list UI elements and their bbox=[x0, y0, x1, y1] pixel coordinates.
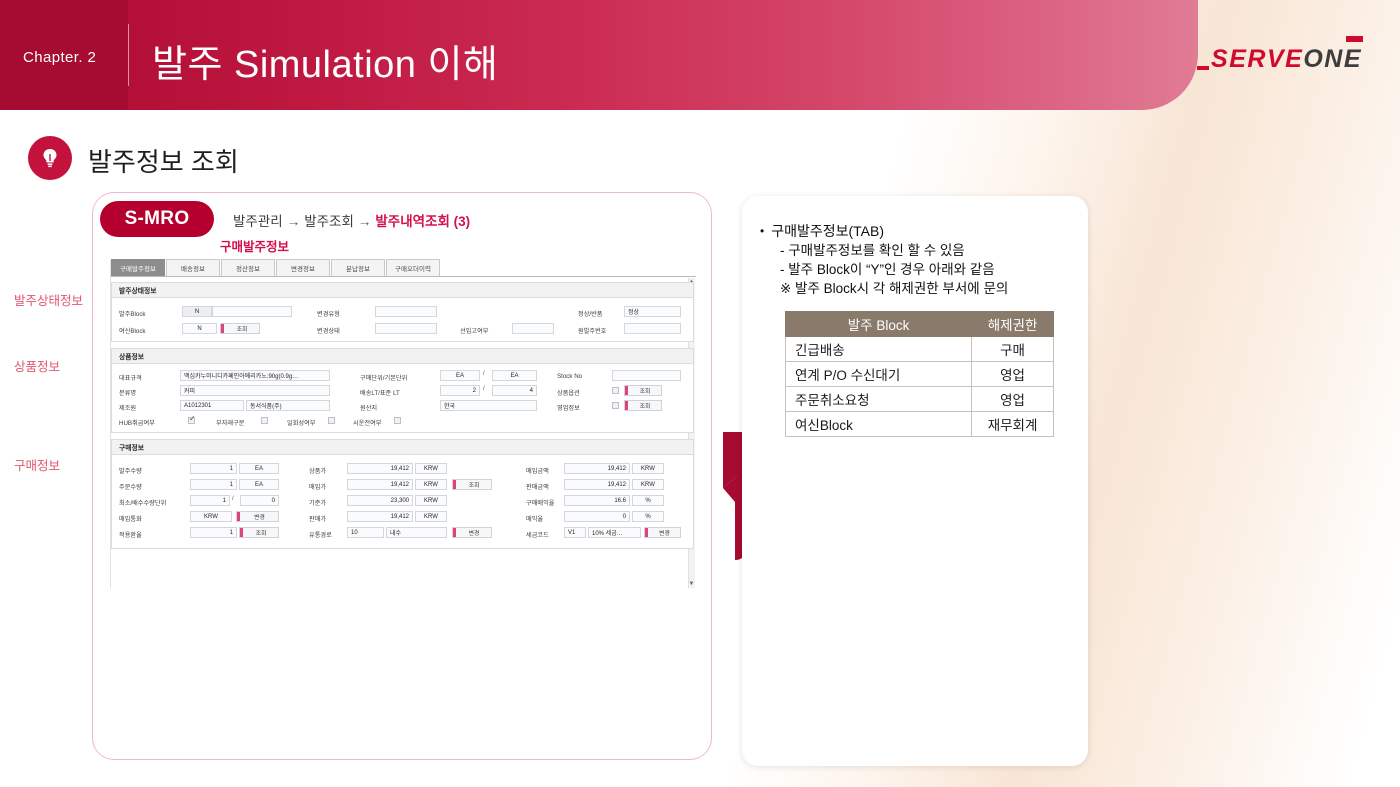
value-base-price: 23,300 bbox=[347, 495, 413, 506]
bullet-subline-2: - 발주 Block이 “Y”인 경우 아래와 같음 bbox=[760, 260, 1072, 279]
tab-purchase-order-history[interactable]: 구매오더이력 bbox=[386, 259, 440, 276]
value-unit-base: EA bbox=[492, 370, 537, 381]
tab-caption: 구매발주정보 bbox=[220, 236, 289, 255]
value-multiple-qty: 0 bbox=[240, 495, 279, 506]
label-origin: 원산지 bbox=[360, 403, 377, 412]
cell-authority-2: 영업 bbox=[972, 362, 1054, 387]
value-sell-price-currency: KRW bbox=[415, 511, 447, 522]
group-order-status: 발주상태정보 발주Block N 여신Block N 조회 변경유형 변경상태 … bbox=[111, 282, 694, 342]
label-maker: 제조원 bbox=[119, 403, 136, 412]
table-header-authority: 해제권한 bbox=[972, 312, 1054, 337]
label-dist-route: 유통경로 bbox=[309, 530, 332, 539]
table-header-row: 발주 Block 해제권한 bbox=[786, 312, 1054, 337]
tax-code-change-button[interactable]: 변경 bbox=[644, 527, 681, 538]
breadcrumb-arrow-2-icon: → bbox=[354, 214, 376, 229]
scroll-down-icon[interactable]: ▼ bbox=[688, 580, 695, 588]
label-lt: 배송LT/표준 LT bbox=[360, 388, 400, 397]
callout-purchase-info: 구매정보 bbox=[14, 455, 60, 474]
label-category: 분류명 bbox=[119, 388, 136, 397]
cell-authority-3: 영업 bbox=[972, 387, 1054, 412]
value-dist-route-code: 10 bbox=[347, 527, 384, 538]
value-request-qty-unit: EA bbox=[239, 479, 279, 490]
table-row: 긴급배송 구매 bbox=[786, 337, 1054, 362]
logo-text-serve: SERVE bbox=[1211, 45, 1303, 74]
value-maker-code: A1012301 bbox=[180, 400, 244, 411]
lt-separator: / bbox=[483, 386, 485, 392]
cell-block-3: 주문취소요청 bbox=[786, 387, 972, 412]
slide-header: Chapter. 2 발주 Simulation 이해 bbox=[0, 0, 1198, 110]
bullet-item-main: • 구매발주정보(TAB) bbox=[760, 222, 1072, 241]
tab-bar: 구매발주정보 배송정보 정산정보 변경정보 분납정보 구매오더이력 bbox=[111, 260, 696, 277]
value-buy-price: 19,412 bbox=[347, 479, 413, 490]
bullet-dot-icon: • bbox=[760, 222, 764, 240]
label-prod-option: 상품옵션 bbox=[557, 388, 580, 397]
bullet-subline-1: - 구매발주정보를 확인 할 수 있음 bbox=[760, 241, 1072, 260]
dist-route-change-button[interactable]: 변경 bbox=[452, 527, 492, 538]
label-base-price: 기준가 bbox=[309, 498, 326, 507]
tab-settlement-info[interactable]: 정산정보 bbox=[221, 259, 275, 276]
value-sell-amount: 19,412 bbox=[564, 479, 630, 490]
value-sale-price: 19,412 bbox=[347, 463, 413, 474]
value-dist-route-name: 내수 bbox=[386, 527, 447, 538]
breadcrumb-current: 발주내역조회 (3) bbox=[375, 214, 470, 229]
checkbox-hub[interactable] bbox=[188, 417, 195, 424]
cell-block-1: 긴급배송 bbox=[786, 337, 972, 362]
value-applied-rate: 1 bbox=[190, 527, 237, 538]
breadcrumb-arrow-1-icon: → bbox=[283, 214, 305, 229]
label-unit: 구매단위/기본단위 bbox=[360, 373, 407, 382]
label-sell-amount: 판매금액 bbox=[526, 482, 549, 491]
label-sell-price: 판매가 bbox=[309, 514, 326, 523]
app-window: 구매발주정보 배송정보 정산정보 변경정보 분납정보 구매오더이력 ▲ ▼ 발주… bbox=[110, 260, 695, 588]
checkbox-trial[interactable] bbox=[394, 417, 401, 424]
tab-delivery-info[interactable]: 배송정보 bbox=[166, 259, 220, 276]
cell-authority-1: 구매 bbox=[972, 337, 1054, 362]
label-order-block: 발주Block bbox=[119, 309, 146, 318]
credit-block-lookup-button[interactable]: 조회 bbox=[220, 323, 260, 334]
label-biz-info: 영업정보 bbox=[557, 403, 580, 412]
label-applied-rate: 적용환율 bbox=[119, 530, 142, 539]
value-base-price-currency: KRW bbox=[415, 495, 447, 506]
checkbox-prod-option[interactable] bbox=[612, 387, 619, 394]
applied-rate-lookup-button[interactable]: 조회 bbox=[239, 527, 279, 538]
value-request-qty: 1 bbox=[190, 479, 237, 490]
lightbulb-icon bbox=[28, 136, 72, 180]
tab-purchase-order-info[interactable]: 구매발주정보 bbox=[111, 259, 165, 276]
page-title: 발주 Simulation 이해 bbox=[152, 33, 498, 88]
value-buy-price-currency: KRW bbox=[415, 479, 447, 490]
value-prereceipt[interactable] bbox=[512, 323, 554, 334]
label-stock-no: Stock No bbox=[557, 373, 582, 380]
group-purchase-info: 구매정보 발주수량 1 EA 주문수량 1 EA 최소/배수수량단위 1 / 0… bbox=[111, 439, 694, 549]
breadcrumb: 발주관리→발주조회→발주내역조회 (3) bbox=[233, 210, 470, 230]
buy-price-lookup-button[interactable]: 조회 bbox=[452, 479, 492, 490]
breadcrumb-item-2[interactable]: 발주조회 bbox=[304, 214, 354, 229]
value-maker-name: 동서식품(주) bbox=[246, 400, 330, 411]
value-sell-amount-currency: KRW bbox=[632, 479, 664, 490]
label-trial: 시운전여부 bbox=[353, 418, 381, 427]
value-buy-currency: KRW bbox=[190, 511, 232, 522]
cell-block-4: 여신Block bbox=[786, 412, 972, 437]
label-sub-material: 부자재구분 bbox=[216, 418, 244, 427]
checkbox-onetime[interactable] bbox=[328, 417, 335, 424]
value-change-type[interactable] bbox=[375, 306, 437, 317]
biz-info-lookup-button[interactable]: 조회 bbox=[624, 400, 662, 411]
value-credit-block: N bbox=[182, 323, 217, 334]
value-buy-margin-unit: % bbox=[632, 495, 664, 506]
screenshot-card: S-MRO 발주관리→발주조회→발주내역조회 (3) 구매발주정보 구매발주정보… bbox=[92, 192, 712, 760]
checkbox-sub-material[interactable] bbox=[261, 417, 268, 424]
label-orig-order-no: 원발주번호 bbox=[578, 326, 606, 335]
value-tax-code: V1 bbox=[564, 527, 586, 538]
label-buy-margin: 구매매익율 bbox=[526, 498, 554, 507]
label-credit-block: 여신Block bbox=[119, 326, 146, 335]
logo-accent-bar-icon bbox=[1346, 36, 1363, 42]
unit-separator: / bbox=[483, 371, 485, 377]
value-lt-standard: 4 bbox=[492, 385, 537, 396]
table-row: 연계 P/O 수신대기 영업 bbox=[786, 362, 1054, 387]
label-min-multiple: 최소/배수수량단위 bbox=[119, 498, 166, 507]
checkbox-biz-info[interactable] bbox=[612, 402, 619, 409]
label-order-qty: 발주수량 bbox=[119, 466, 142, 475]
label-sale-price: 상품가 bbox=[309, 466, 326, 475]
label-buy-currency: 매입통화 bbox=[119, 514, 142, 523]
label-change-state: 변경상태 bbox=[317, 326, 340, 335]
table-row: 여신Block 재무회계 bbox=[786, 412, 1054, 437]
value-category: 커피 bbox=[180, 385, 330, 396]
value-change-state[interactable] bbox=[375, 323, 437, 334]
value-buy-amount: 19,412 bbox=[564, 463, 630, 474]
value-order-block: N bbox=[182, 306, 212, 317]
value-buy-margin: 16.6 bbox=[564, 495, 630, 506]
bullet-subline-3: ※ 발주 Block시 각 해제권한 부서에 문의 bbox=[760, 279, 1072, 298]
buy-currency-change-button[interactable]: 변경 bbox=[236, 511, 279, 522]
value-spec: 맥심카누미니디카페인아메리카노:90g(0.9g… bbox=[180, 370, 330, 381]
tab-change-info[interactable]: 변경정보 bbox=[276, 259, 330, 276]
label-onetime: 일회성여부 bbox=[287, 418, 315, 427]
table-row: 주문취소요청 영업 bbox=[786, 387, 1054, 412]
value-unit-buy: EA bbox=[440, 370, 480, 381]
value-orig-order-no[interactable] bbox=[624, 323, 681, 334]
logo-underscore-icon bbox=[1197, 66, 1209, 70]
cell-authority-4: 재무회계 bbox=[972, 412, 1054, 437]
label-normal-return: 정상/반품 bbox=[578, 309, 603, 318]
label-change-type: 변경유형 bbox=[317, 309, 340, 318]
chapter-label: Chapter. 2 bbox=[23, 49, 96, 66]
bullet-list: • 구매발주정보(TAB) - 구매발주정보를 확인 할 수 있음 - 발주 B… bbox=[760, 222, 1072, 298]
label-request-qty: 주문수량 bbox=[119, 482, 142, 491]
value-sale-price-currency: KRW bbox=[415, 463, 447, 474]
smro-badge: S-MRO bbox=[100, 201, 214, 237]
label-tax-code: 세금코드 bbox=[526, 530, 549, 539]
smro-badge-label: S-MRO bbox=[125, 208, 190, 230]
group-product-info-title: 상품정보 bbox=[112, 349, 693, 364]
label-margin: 매익율 bbox=[526, 514, 543, 523]
label-prereceipt: 선입고여부 bbox=[460, 326, 488, 335]
value-lt-delivery: 2 bbox=[440, 385, 480, 396]
value-margin-unit: % bbox=[632, 511, 664, 522]
label-spec: 대표규격 bbox=[119, 373, 142, 382]
explanation-card: • 구매발주정보(TAB) - 구매발주정보를 확인 할 수 있음 - 발주 B… bbox=[742, 196, 1088, 766]
value-origin: 한국 bbox=[440, 400, 537, 411]
value-buy-amount-currency: KRW bbox=[632, 463, 664, 474]
bullet-title: 구매발주정보(TAB) bbox=[771, 222, 884, 241]
value-order-qty: 1 bbox=[190, 463, 237, 474]
value-min-qty: 1 bbox=[190, 495, 230, 506]
value-margin: 0 bbox=[564, 511, 630, 522]
slide-root: Chapter. 2 발주 Simulation 이해 SERVE ONE 발주… bbox=[0, 0, 1400, 787]
value-order-block-2[interactable] bbox=[212, 306, 292, 317]
prod-option-lookup-button[interactable]: 조회 bbox=[624, 385, 662, 396]
breadcrumb-item-1[interactable]: 발주관리 bbox=[233, 214, 283, 229]
value-stock-no[interactable] bbox=[612, 370, 681, 381]
value-order-qty-unit: EA bbox=[239, 463, 279, 474]
section-title: 발주정보 조회 bbox=[88, 142, 239, 179]
value-normal-return: 정상 bbox=[624, 306, 681, 317]
value-sell-price: 19,412 bbox=[347, 511, 413, 522]
logo-text-one: ONE bbox=[1303, 45, 1362, 74]
group-purchase-info-title: 구매정보 bbox=[112, 440, 693, 455]
header-divider bbox=[128, 24, 129, 86]
callout-product-info: 상품정보 bbox=[14, 356, 60, 375]
table-header-block: 발주 Block bbox=[786, 312, 972, 337]
group-order-status-title: 발주상태정보 bbox=[112, 283, 693, 298]
cell-block-2: 연계 P/O 수신대기 bbox=[786, 362, 972, 387]
tab-installment-info[interactable]: 분납정보 bbox=[331, 259, 385, 276]
block-authority-table: 발주 Block 해제권한 긴급배송 구매 연계 P/O 수신대기 영업 주문취… bbox=[785, 311, 1054, 437]
group-product-info: 상품정보 대표규격 맥심카누미니디카페인아메리카노:90g(0.9g… 분류명 … bbox=[111, 348, 694, 433]
callout-order-status: 발주상태정보 bbox=[14, 290, 83, 309]
label-buy-amount: 매입금액 bbox=[526, 466, 549, 475]
label-hub: HUB취급여부 bbox=[119, 418, 155, 427]
serveone-logo: SERVE ONE bbox=[1197, 45, 1362, 74]
value-tax-code-name: 10% 세금… bbox=[588, 527, 641, 538]
label-buy-price: 매입가 bbox=[309, 482, 326, 491]
min-multiple-separator: / bbox=[232, 496, 234, 502]
